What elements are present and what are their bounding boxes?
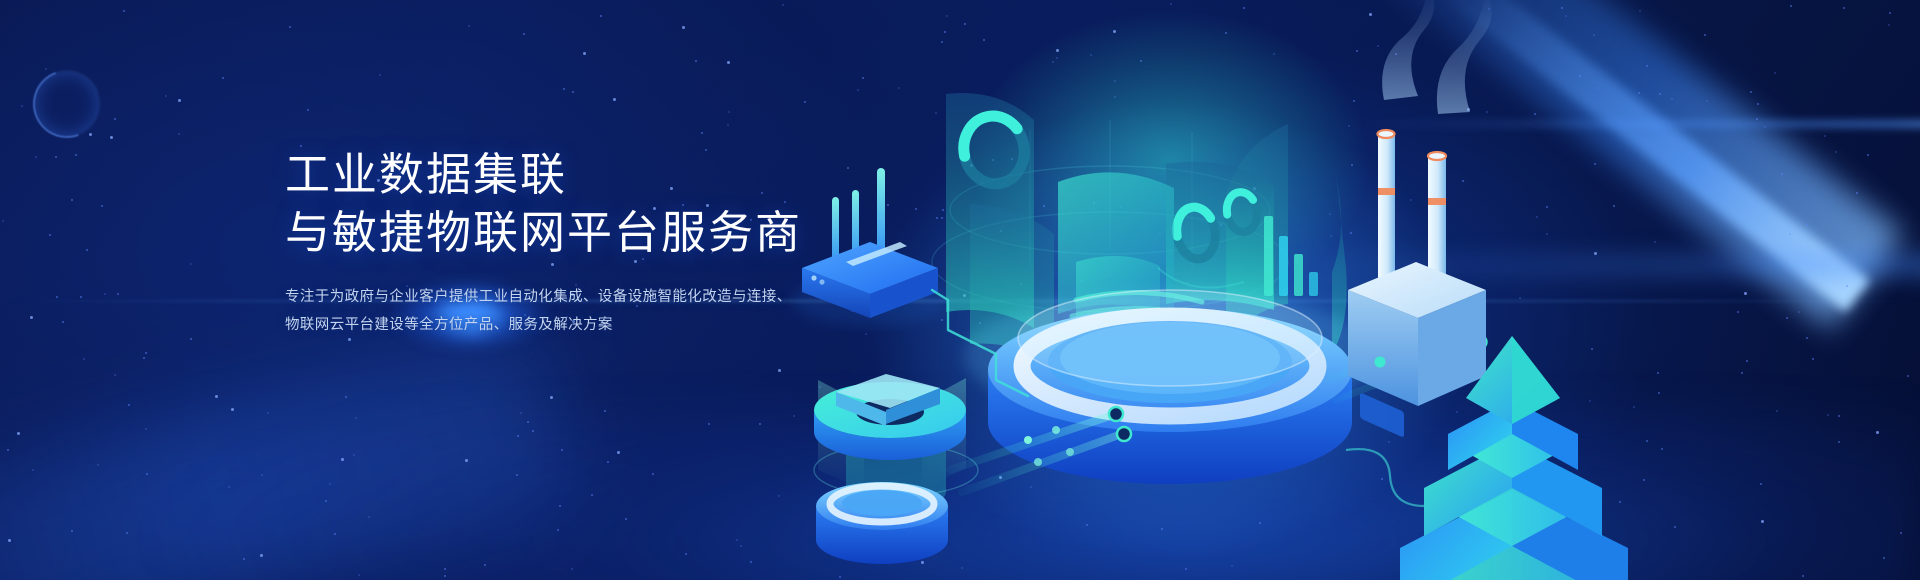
iot-illustration — [780, 0, 1920, 580]
flow-node — [1109, 407, 1123, 421]
disc-inner — [842, 490, 922, 516]
hero-copy: 工业数据集联 与敏捷物联网平台服务商 专注于为政府与企业客户提供工业自动化集成、… — [285, 146, 925, 340]
smoke-plume-left — [1382, 0, 1434, 100]
smokestack-left-band-2 — [1378, 188, 1395, 195]
subtitle-line-2: 物联网云平台建设等全方位产品、服务及解决方案 — [285, 311, 925, 339]
smokestack-right-band-2 — [1428, 198, 1446, 205]
flow-pulse — [1024, 436, 1032, 444]
glow-platform — [964, 290, 1376, 484]
subtitle-line-1: 专注于为政府与企业客户提供工业自动化集成、设备设施智能化改造与连接、 — [285, 283, 925, 311]
headline-line-2: 与敏捷物联网平台服务商 — [285, 204, 925, 262]
flow-pulse — [1052, 426, 1060, 434]
factory-indicator — [1375, 357, 1386, 368]
page-title: 工业数据集联 与敏捷物联网平台服务商 — [285, 146, 925, 261]
smoke-plume-right — [1437, 0, 1492, 114]
smokestack-left — [1378, 134, 1395, 284]
hero-subtitle: 专注于为政府与企业客户提供工业自动化集成、设备设施智能化改造与连接、 物联网云平… — [285, 283, 925, 340]
pyramid-apex-right — [1512, 336, 1560, 424]
flow-pulse — [1066, 448, 1074, 456]
headline-line-1: 工业数据集联 — [285, 146, 925, 204]
hero-banner: 工业数据集联 与敏捷物联网平台服务商 专注于为政府与企业客户提供工业自动化集成、… — [0, 0, 1920, 580]
flow-pulse — [1034, 458, 1042, 466]
disc-pedestal — [816, 482, 948, 564]
smokestack-right — [1428, 156, 1446, 284]
flow-node — [1117, 427, 1131, 441]
